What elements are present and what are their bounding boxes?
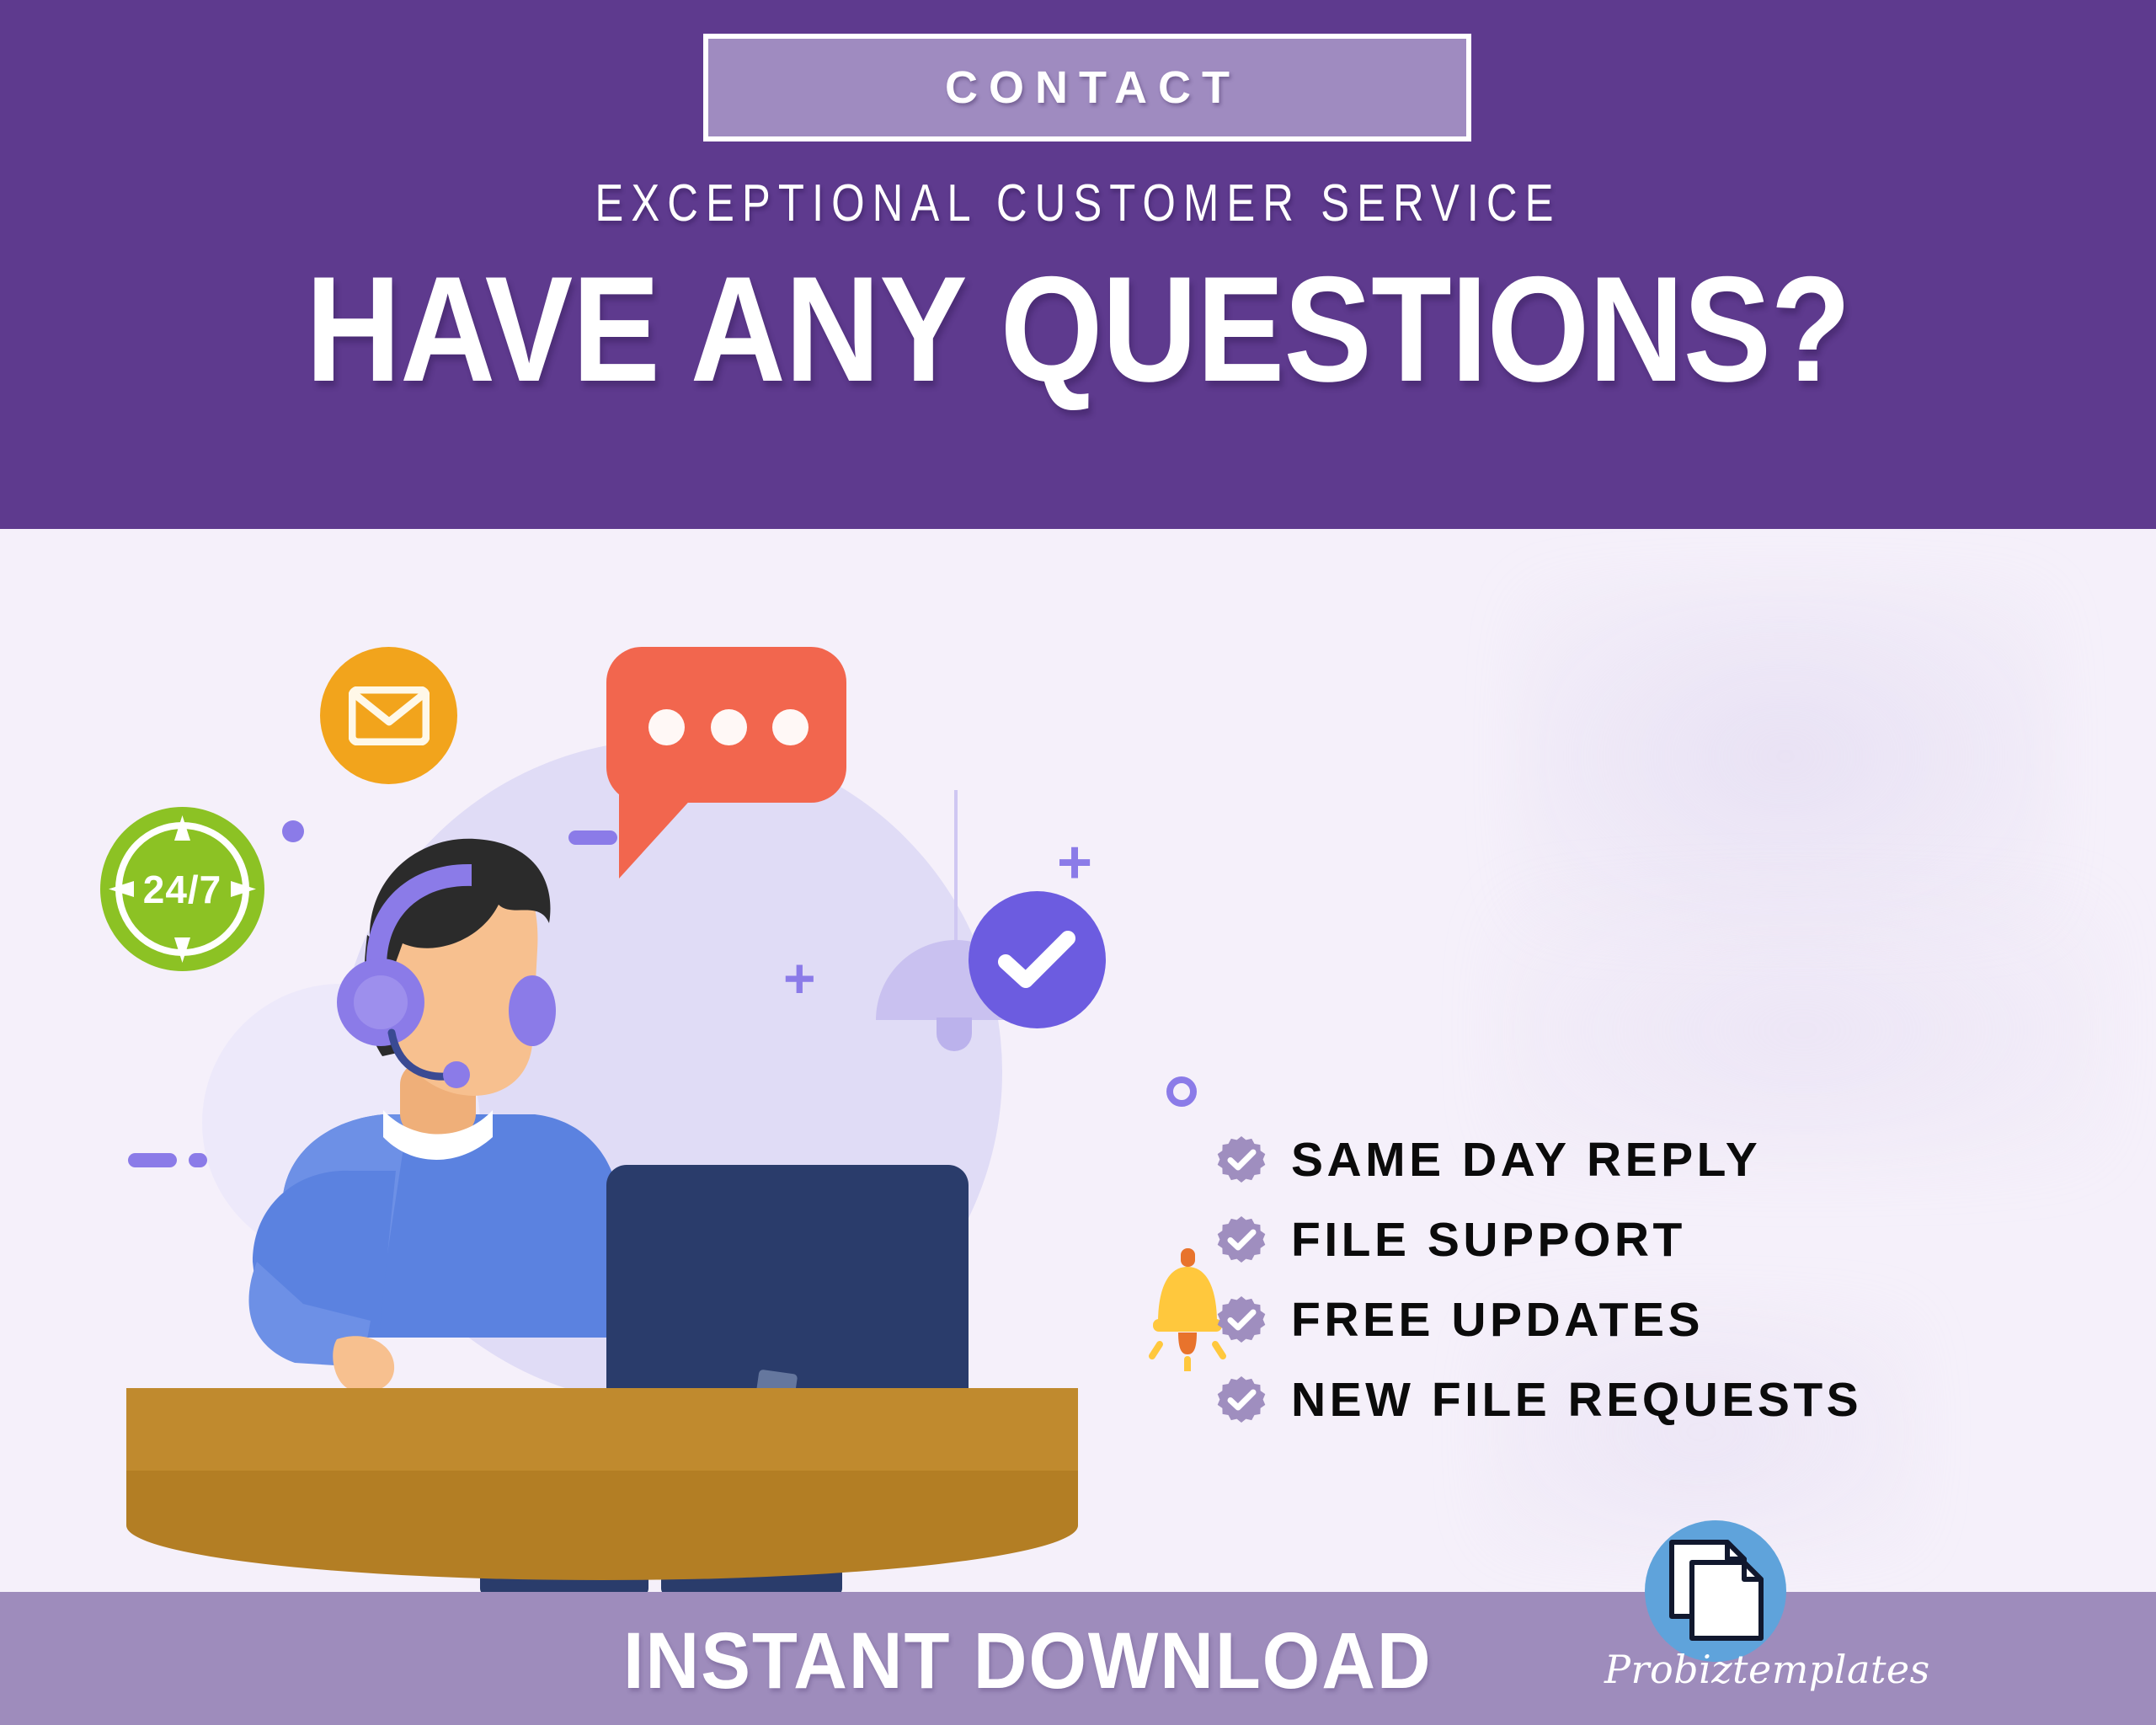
- ring-decoration: [1166, 1076, 1197, 1107]
- check-circle-icon: [969, 891, 1106, 1028]
- verified-check-badge-icon: [1217, 1375, 1266, 1424]
- lamp-bulb: [937, 1017, 972, 1051]
- brand-logo-circle: [1645, 1520, 1786, 1662]
- verified-check-badge-icon: [1217, 1295, 1266, 1344]
- instant-download-label: INSTANT DOWNLOAD: [623, 1616, 1433, 1707]
- contact-badge-label: CONTACT: [934, 61, 1241, 114]
- poster-canvas: CONTACT EXCEPTIONAL CUSTOMER SERVICE HAV…: [0, 0, 2156, 1725]
- feature-list: SAME DAY REPLY FILE SUPPORT: [1217, 1134, 2076, 1454]
- dash-long: [128, 1153, 177, 1167]
- feature-label: FREE UPDATES: [1291, 1292, 1704, 1348]
- background-texture-b: [1499, 891, 2105, 1169]
- clock-badge-label: 24/7: [143, 867, 222, 912]
- customer-support-illustration: + + +: [93, 546, 1171, 1557]
- typing-dot: [772, 709, 808, 745]
- background-texture-a: [1516, 579, 2055, 933]
- verified-check-badge-icon: [1217, 1135, 1266, 1184]
- header-headline: HAVE ANY QUESTIONS?: [130, 254, 2027, 404]
- plus-decoration-1: +: [1057, 832, 1092, 893]
- feature-label: FILE SUPPORT: [1291, 1212, 1686, 1268]
- feature-label: SAME DAY REPLY: [1291, 1132, 1761, 1188]
- lamp-cord: [954, 790, 958, 942]
- contact-badge: CONTACT: [703, 34, 1471, 142]
- typing-dot: [711, 709, 747, 745]
- feature-item: FILE SUPPORT: [1217, 1214, 2076, 1266]
- header-band: CONTACT EXCEPTIONAL CUSTOMER SERVICE HAV…: [0, 0, 2156, 529]
- envelope-icon: [320, 647, 457, 784]
- feature-label: NEW FILE REQUESTS: [1291, 1372, 1862, 1428]
- feature-item: FREE UPDATES: [1217, 1294, 2076, 1346]
- typing-dots: [648, 710, 808, 744]
- feature-item: SAME DAY REPLY: [1217, 1134, 2076, 1186]
- typing-dot: [648, 709, 685, 745]
- feature-item: NEW FILE REQUESTS: [1217, 1374, 2076, 1426]
- dash-decoration-left: [128, 1153, 207, 1167]
- desk-curve: [126, 1471, 1078, 1580]
- main-body: + + +: [0, 529, 2156, 1592]
- brand-name: Probiztemplates: [1604, 1647, 1840, 1692]
- verified-check-badge-icon: [1217, 1215, 1266, 1264]
- header-subtitle: EXCEPTIONAL CUSTOMER SERVICE: [194, 174, 1961, 233]
